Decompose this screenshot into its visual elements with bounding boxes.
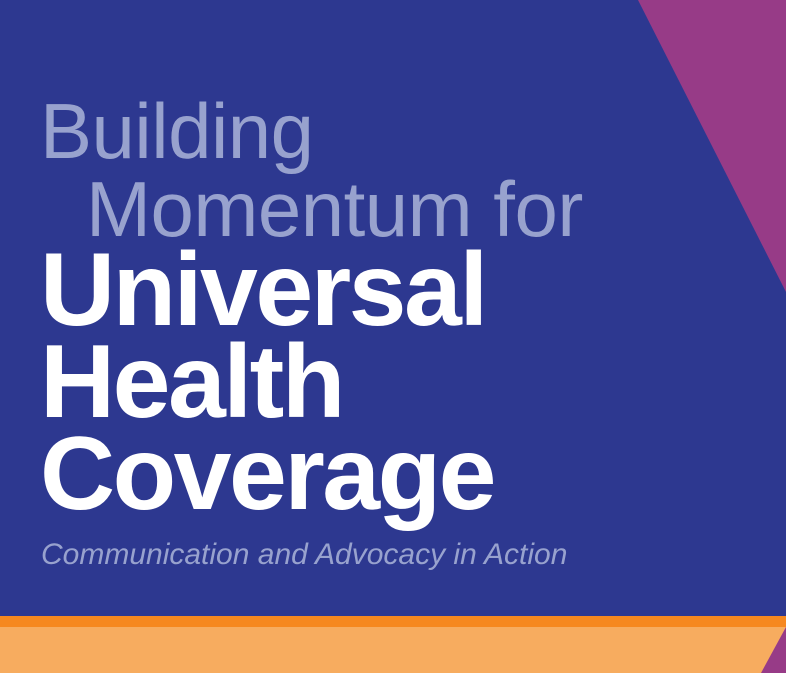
page-bottom-margin (0, 673, 786, 680)
footer-bar-orange-light (0, 627, 786, 673)
cover-subtitle: Communication and Advocacy in Action (41, 538, 567, 572)
footer-bar-orange-dark (0, 616, 786, 627)
report-cover: Building Momentum for Universal Health C… (0, 0, 786, 680)
title-line-building: Building (40, 92, 314, 170)
title-block: Building Momentum for Universal Health C… (0, 0, 786, 616)
title-line-coverage: Coverage (40, 422, 494, 526)
